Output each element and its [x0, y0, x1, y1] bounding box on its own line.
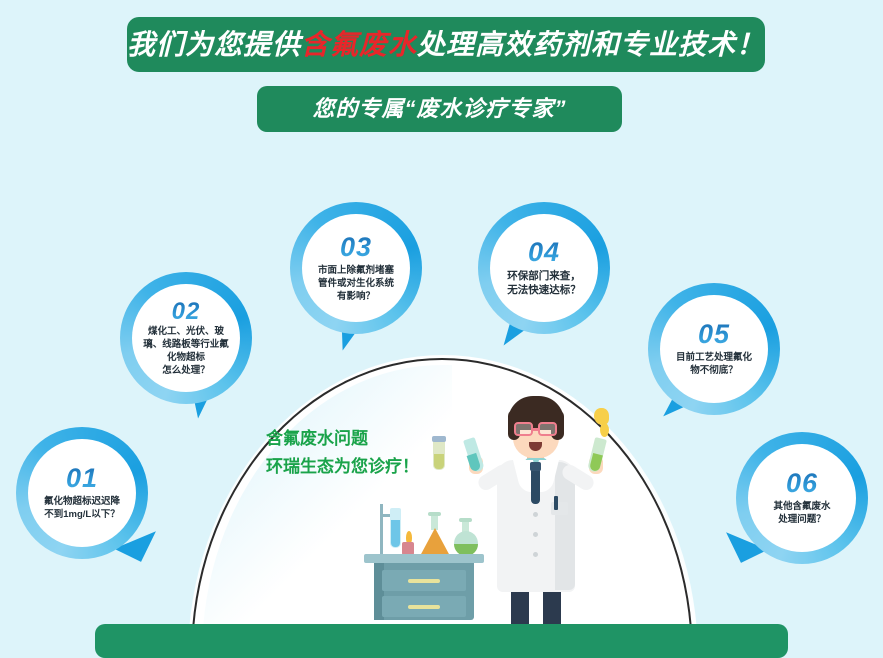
- drawer-handle-top: [408, 579, 440, 583]
- bubble-text-05-line2: 物不彻底？: [676, 364, 752, 377]
- necktie-knot: [530, 462, 541, 471]
- scientist-illustration: [455, 392, 615, 632]
- clamp-stand-pole: [380, 504, 383, 556]
- bubble-text-06-line2: 处理问题？: [773, 513, 830, 526]
- question-bubble-03[interactable]: 03 市面上除氟剂堵塞 管件或对生化系统 有影响？: [290, 202, 422, 334]
- bubble-number-05: 05: [698, 321, 730, 348]
- bubble-text-06-line1: 其他含氟废水: [773, 500, 830, 513]
- glasses-lens-right: [538, 422, 557, 436]
- poster-canvas: 我们为您提供含氟废水处理高效药剂和专业技术！ 您的专属“废水诊疗专家” 含氟废水…: [0, 0, 883, 658]
- bubble-text-03-line3: 有影响？: [318, 290, 394, 303]
- bubble-inner-04: 04 环保部门来查， 无法快速达标？: [490, 214, 598, 322]
- main-title-suffix: 处理高效药剂和专业技术！: [417, 29, 765, 60]
- bubble-text-04-line1: 环保部门来查，: [507, 269, 581, 283]
- coat-button-1: [533, 512, 538, 517]
- bubble-text-05: 目前工艺处理氟化 物不彻底？: [672, 351, 756, 377]
- bubble-text-02-line2: 璃、线路板等行业氟: [143, 338, 229, 351]
- drawer-handle-bottom: [408, 605, 440, 609]
- main-title-text: 我们为您提供含氟废水处理高效药剂和专业技术！: [127, 31, 765, 59]
- bubble-number-03: 03: [340, 234, 372, 261]
- pen-icon: [554, 496, 558, 510]
- mini-tube-cap: [432, 436, 446, 442]
- bubble-text-02: 煤化工、光伏、玻 璃、线路板等行业氟 化物超标 怎么处理？: [139, 325, 233, 377]
- bubble-number-02: 02: [172, 300, 201, 324]
- erlenmeyer-flask-icon: [420, 528, 450, 556]
- glasses-bridge: [532, 428, 540, 431]
- bubble-text-02-line1: 煤化工、光伏、玻: [143, 325, 229, 338]
- bubble-text-01-line1: 氟化物超标迟迟降: [44, 495, 120, 508]
- coat-button-2: [533, 532, 538, 537]
- bubble-number-06: 06: [786, 470, 818, 497]
- question-bubble-04[interactable]: 04 环保部门来查， 无法快速达标？: [478, 202, 610, 334]
- bubble-inner-02: 02 煤化工、光伏、玻 璃、线路板等行业氟 化物超标 怎么处理？: [132, 284, 240, 392]
- bubble-number-04: 04: [528, 239, 560, 266]
- test-tube-liquid: [391, 520, 400, 547]
- bubble-text-02-line4: 怎么处理？: [143, 364, 229, 377]
- question-bubble-06[interactable]: 06 其他含氟废水 处理问题？: [736, 432, 868, 564]
- bubble-text-04-line2: 无法快速达标？: [507, 283, 581, 297]
- smoke-puff-large: [594, 408, 609, 425]
- sub-title-text: 您的专属“废水诊疗专家”: [312, 98, 566, 120]
- bottom-green-bar: [95, 624, 788, 658]
- coat-button-3: [533, 552, 538, 557]
- erlenmeyer-rim: [428, 512, 441, 516]
- main-title-banner: 我们为您提供含氟废水处理高效药剂和专业技术！: [127, 17, 765, 72]
- mini-tube-liquid: [434, 454, 444, 469]
- question-bubble-05[interactable]: 05 目前工艺处理氟化 物不彻底？: [648, 283, 780, 415]
- question-bubble-02[interactable]: 02 煤化工、光伏、玻 璃、线路板等行业氟 化物超标 怎么处理？: [120, 272, 252, 404]
- smoke-puff-small: [600, 423, 609, 437]
- bubble-text-01: 氟化物超标迟迟降 不到1mg/L以下？: [40, 495, 124, 521]
- bubble-inner-03: 03 市面上除氟剂堵塞 管件或对生化系统 有影响？: [302, 214, 410, 322]
- mini-test-tube-icon: [432, 436, 446, 470]
- bubble-text-06: 其他含氟废水 处理问题？: [769, 500, 834, 526]
- main-title-prefix: 我们为您提供: [127, 29, 301, 60]
- bubble-text-05-line1: 目前工艺处理氟化: [676, 351, 752, 364]
- bubble-inner-01: 01 氟化物超标迟迟降 不到1mg/L以下？: [28, 439, 136, 547]
- bubble-inner-05: 05 目前工艺处理氟化 物不彻底？: [660, 295, 768, 403]
- bubble-text-04: 环保部门来查， 无法快速达标？: [501, 269, 587, 297]
- glasses-lens-left: [514, 422, 533, 436]
- necktie: [531, 468, 540, 504]
- main-title-highlight: 含氟废水: [301, 29, 417, 60]
- bubble-number-01: 01: [66, 465, 98, 492]
- bubble-text-03-line1: 市面上除氟剂堵塞: [318, 264, 394, 277]
- sub-title-banner: 您的专属“废水诊疗专家”: [257, 86, 622, 132]
- bubble-text-01-line2: 不到1mg/L以下？: [44, 508, 120, 521]
- bubble-text-03-line2: 管件或对生化系统: [318, 277, 394, 290]
- question-bubble-01[interactable]: 01 氟化物超标迟迟降 不到1mg/L以下？: [16, 427, 148, 559]
- bubble-text-02-line3: 化物超标: [143, 351, 229, 364]
- bubble-inner-06: 06 其他含氟废水 处理问题？: [748, 444, 856, 552]
- bubble-text-03: 市面上除氟剂堵塞 管件或对生化系统 有影响？: [314, 264, 398, 303]
